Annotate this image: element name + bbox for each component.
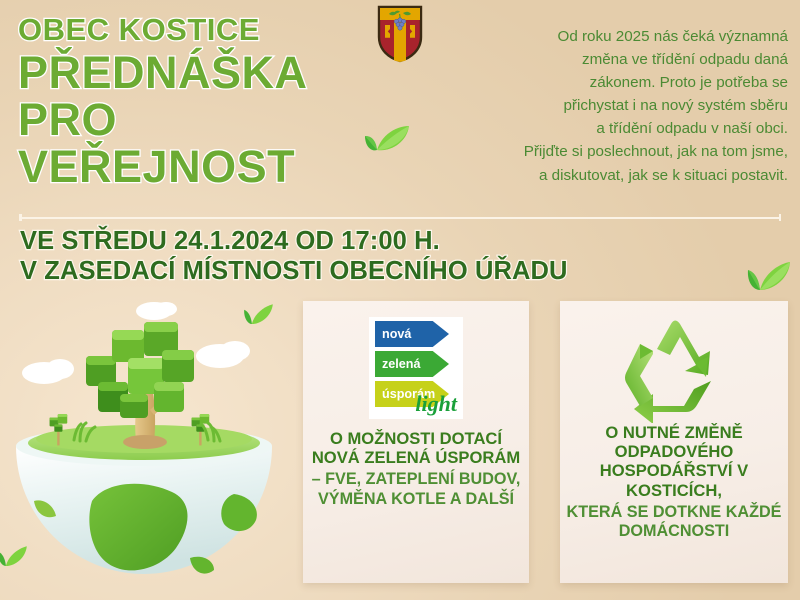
info-card-dotace[interactable]: nová zelená úsporám light O MOŽNOSTI DOT… [303,301,529,583]
card-title: O MOŽNOSTI DOTACÍ NOVÁ ZELENÁ ÚSPORÁM [309,429,523,467]
event-venue: V ZASEDACÍ MÍSTNOSTI OBECNÍHO ÚŘADU [20,256,780,286]
card-subtitle: – FVE, ZATEPLENÍ BUDOV, VÝMĚNA KOTLE A D… [309,470,523,508]
headline-line-4: VEŘEJNOST [18,144,378,189]
card-subtitle: KTERÁ SE DOTKNE KAŽDÉ DOMÁCNOSTI [566,503,782,541]
leaf-pair-icon [357,116,413,172]
nova-zelena-usporam-light-logo: nová zelená úsporám light [369,317,463,419]
intro-line: a diskutovat, jak se k situaci postavit. [430,164,788,187]
intro-line: Přijďte si poslechnout, jak na tom jsme, [430,140,788,163]
headline-line-2: PŘEDNÁŠKA [18,50,378,95]
card-title: O NUTNÉ ZMĚNĚ ODPADOVÉHO HOSPODÁŘSTVÍ V … [566,423,782,500]
event-datetime: VE STŘEDU 24.1.2024 OD 17:00 H. [20,226,780,256]
intro-line: Od roku 2025 nás čeká významná [430,25,788,48]
divider-bar [19,217,781,219]
poster-canvas: OBEC KOSTICE PŘEDNÁŠKA PRO VEŘEJNOST [0,0,800,600]
recycling-symbol-icon [613,315,735,423]
intro-line: a třídění odpadu v naší obci. [430,117,788,140]
intro-line: přichystat i na nový systém sběru [430,94,788,117]
intro-paragraph: Od roku 2025 nás čeká významná změna ve … [430,25,788,187]
coat-of-arms-icon [377,5,423,63]
earth-globe-illustration [0,296,294,600]
logo-script-light: light [415,391,457,417]
logo-arrow-green: zelená [375,351,449,377]
horizontal-divider [19,216,781,219]
logo-row-zelena: zelená [375,351,457,377]
card-text-odpady: O NUTNÉ ZMĚNĚ ODPADOVÉHO HOSPODÁŘSTVÍ V … [566,423,782,541]
card-text-dotace: O MOŽNOSTI DOTACÍ NOVÁ ZELENÁ ÚSPORÁM – … [309,429,523,509]
headline-line-1: OBEC KOSTICE [18,14,378,45]
headline-line-3: PRO [18,97,378,142]
logo-arrow-blue: nová [375,321,449,347]
divider-cap-left [19,214,22,221]
info-card-odpady[interactable]: O NUTNÉ ZMĚNĚ ODPADOVÉHO HOSPODÁŘSTVÍ V … [560,301,788,583]
headline-block: OBEC KOSTICE PŘEDNÁŠKA PRO VEŘEJNOST [18,14,378,189]
logo-row-nova: nová [375,321,457,347]
divider-cap-right [779,214,782,221]
intro-line: změna ve třídění odpadu daná [430,48,788,71]
intro-line: zákonem. Proto je potřeba se [430,71,788,94]
event-details-block: VE STŘEDU 24.1.2024 OD 17:00 H. V ZASEDA… [20,226,780,286]
